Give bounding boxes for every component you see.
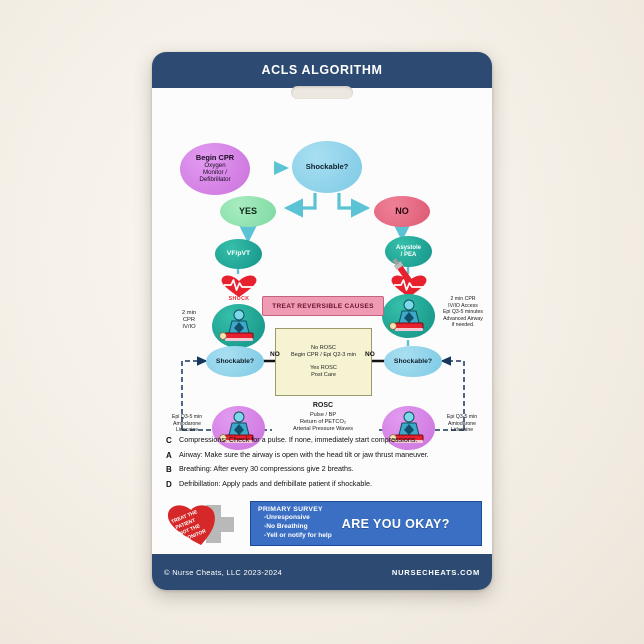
card-footer: © Nurse Cheats, LLC 2023-2024 NURSECHEAT…	[152, 554, 492, 590]
drug-note-left: Epi Q3-5 min Amiodarone Lidocaine	[162, 414, 212, 434]
primary-survey-item-2: -No Breathing	[264, 523, 332, 532]
left-cpr-note: 2 min CPR IV/IO	[166, 310, 212, 332]
cpr-person-icon	[219, 309, 259, 343]
shock-heart-left-group: SHOCK	[218, 274, 260, 306]
primary-survey-section: TREAT THE PATIENT NOT THE MONITOR PRIMAR…	[164, 501, 482, 547]
left-cpr-note-1: 2 min	[166, 310, 212, 317]
shockable-top-label: Shockable?	[306, 163, 349, 171]
center-box-norosc: No ROSC	[291, 345, 356, 352]
heart-ecg-icon	[218, 274, 260, 298]
treat-reversible-causes-box: TREAT REVERSIBLE CAUSES	[262, 296, 384, 316]
acls-flowchart: Begin CPR Oxygen Monitor / Defibrillator…	[152, 88, 492, 433]
page-title: ACLS ALGORITHM	[261, 63, 382, 77]
no-label: NO	[395, 207, 409, 217]
right-cpr-note: 2 min CPR IV/IO Access Epi Q3-5 minutes …	[436, 296, 490, 329]
cabd-text-b: Breathing: After every 30 compressions g…	[179, 465, 354, 474]
node-yes: YES	[220, 196, 276, 227]
card-header: ACLS ALGORITHM	[152, 52, 492, 88]
rosc-note: ROSC Pulse / BP Return of PETCO₂ Arteria…	[262, 402, 384, 433]
cabd-key-b: B	[166, 465, 179, 474]
begin-cpr-line-3: Defibrillator	[199, 177, 230, 184]
cabd-text-c: Compressions: Check for a pulse. If none…	[179, 436, 417, 445]
heart-cross-icon: TREAT THE PATIENT NOT THE MONITOR	[164, 501, 250, 547]
footer-website[interactable]: NURSECHEATS.COM	[392, 568, 480, 577]
shockable-right-label: Shockable?	[394, 358, 432, 365]
card-body: Begin CPR Oxygen Monitor / Defibrillator…	[152, 88, 492, 554]
cabd-text-a: Airway: Make sure the airway is open wit…	[179, 451, 429, 460]
arrow-shockable-no	[339, 193, 367, 208]
center-box-yesrosc: Yes ROSC	[310, 365, 337, 372]
yes-label: YES	[239, 207, 257, 217]
arrow-begincpr-to-shockable	[248, 161, 289, 175]
cpr-icon-left	[212, 304, 265, 348]
rosc-line-1: Pulse / BP	[262, 412, 384, 419]
drug-note-right-3: Lidocaine	[436, 427, 488, 434]
cabd-list: C Compressions: Check for a pulse. If no…	[166, 436, 482, 494]
left-cpr-note-3: IV/IO	[166, 324, 212, 331]
cabd-row: A Airway: Make sure the airway is open w…	[166, 451, 482, 460]
rosc-line-2: Return of PETCO₂	[262, 419, 384, 426]
cabd-text-d: Defribillation: Apply pads and defribill…	[179, 480, 372, 489]
arrow-label-no-left: NO	[270, 351, 280, 358]
cabd-key-a: A	[166, 451, 179, 460]
rosc-line-3: Arterial Pressure Waves	[262, 426, 384, 433]
drug-note-right: Epi Q3-5 min Amiodarone Lidocaine	[436, 414, 488, 434]
center-box-postcare: Post Care	[310, 372, 337, 379]
cabd-key-c: C	[166, 436, 179, 445]
cabd-row: B Breathing: After every 30 compressions…	[166, 465, 482, 474]
primary-survey-band: PRIMARY SURVEY -Unresponsive -No Breathi…	[250, 501, 482, 546]
left-cpr-note-2: CPR	[166, 317, 212, 324]
primary-survey-item-3: -Yell or notify for help	[264, 532, 332, 541]
treat-reversible-label: TREAT REVERSIBLE CAUSES	[272, 303, 374, 310]
cpr-icon-right	[382, 294, 435, 338]
begin-cpr-title: Begin CPR	[196, 154, 234, 162]
node-no: NO	[374, 196, 430, 227]
primary-survey-item-1: -Unresponsive	[264, 514, 332, 523]
center-box-begincpr: Begin CPR / Epi Q2-3 min	[291, 352, 356, 359]
cabd-row: C Compressions: Check for a pulse. If no…	[166, 436, 482, 445]
arrow-shockable-yes	[287, 193, 315, 208]
asystole-line-2: / PEA	[401, 252, 417, 258]
rosc-title: ROSC	[262, 402, 384, 411]
cpr-person-icon	[389, 299, 429, 333]
node-shockable-right: Shockable?	[384, 346, 442, 377]
shock-label-left: SHOCK	[218, 296, 260, 302]
node-vf-pvt: VF/pVT	[215, 239, 262, 269]
cabd-row: D Defribillation: Apply pads and defribi…	[166, 480, 482, 489]
footer-copyright: © Nurse Cheats, LLC 2023-2024	[164, 568, 282, 577]
right-cpr-note-5: if needed.	[436, 322, 490, 329]
right-cpr-note-3: Epi Q3-5 minutes	[436, 309, 490, 316]
badge-card: ACLS ALGORITHM	[152, 52, 492, 590]
center-rosc-box: No ROSC Begin CPR / Epi Q2-3 min Yes ROS…	[275, 328, 372, 396]
heart-badge: TREAT THE PATIENT NOT THE MONITOR	[164, 501, 250, 547]
primary-survey-title: PRIMARY SURVEY	[258, 506, 332, 513]
cabd-key-d: D	[166, 480, 179, 489]
arrow-label-no-right: NO	[365, 351, 375, 358]
node-shockable-top: Shockable?	[292, 141, 362, 193]
primary-survey-text: PRIMARY SURVEY -Unresponsive -No Breathi…	[251, 503, 332, 544]
vf-pvt-label: VF/pVT	[227, 250, 250, 257]
node-asystole-pea: Asystole / PEA	[385, 236, 432, 267]
badge-slot	[291, 86, 353, 99]
are-you-okay-callout: ARE YOU OKAY?	[342, 517, 450, 531]
shockable-left-label: Shockable?	[216, 358, 254, 365]
drug-note-left-3: Lidocaine	[162, 427, 212, 434]
node-shockable-left: Shockable?	[206, 346, 264, 377]
node-begin-cpr: Begin CPR Oxygen Monitor / Defibrillator	[180, 143, 250, 195]
